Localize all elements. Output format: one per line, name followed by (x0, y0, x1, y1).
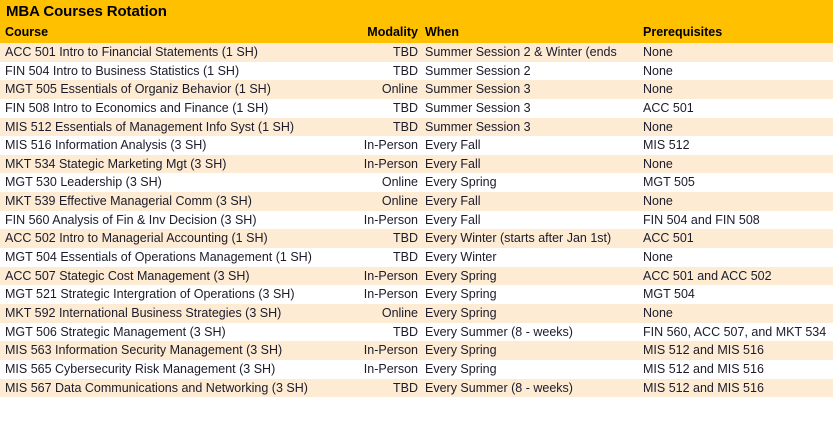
cell-course[interactable]: MIS 563 Information Security Management … (5, 341, 341, 360)
table-row[interactable]: MGT 506 Strategic Management (3 SH)TBDEv… (0, 323, 833, 342)
sheet-title-row: MBA Courses Rotation (0, 0, 833, 22)
cell-course[interactable]: MKT 539 Effective Managerial Comm (3 SH) (5, 192, 341, 211)
cell-modality[interactable]: TBD (341, 229, 420, 248)
cell-course[interactable]: FIN 508 Intro to Economics and Finance (… (5, 99, 341, 118)
table-row[interactable]: MKT 592 International Business Strategie… (0, 304, 833, 323)
cell-modality[interactable]: Online (341, 80, 420, 99)
cell-modality[interactable]: In-Person (341, 211, 420, 230)
table-row[interactable]: MIS 516 Information Analysis (3 SH)In-Pe… (0, 136, 833, 155)
cell-modality[interactable]: In-Person (341, 360, 420, 379)
sheet-empty-area (0, 397, 833, 425)
cell-course[interactable]: MIS 512 Essentials of Management Info Sy… (5, 118, 341, 137)
cell-course[interactable]: MIS 565 Cybersecurity Risk Management (3… (5, 360, 341, 379)
cell-prerequisites[interactable]: MGT 504 (643, 285, 831, 304)
table-row[interactable]: MIS 563 Information Security Management … (0, 341, 833, 360)
cell-modality[interactable]: In-Person (341, 267, 420, 286)
cell-prerequisites[interactable]: None (643, 304, 831, 323)
table-body: ACC 501 Intro to Financial Statements (1… (0, 43, 833, 397)
cell-modality[interactable]: TBD (341, 323, 420, 342)
cell-prerequisites[interactable]: MGT 505 (643, 173, 831, 192)
cell-when[interactable]: Every Spring (425, 173, 641, 192)
cell-modality[interactable]: In-Person (341, 285, 420, 304)
table-row[interactable]: MGT 505 Essentials of Organiz Behavior (… (0, 80, 833, 99)
cell-prerequisites[interactable]: None (643, 118, 831, 137)
table-row[interactable]: MIS 567 Data Communications and Networki… (0, 379, 833, 398)
cell-prerequisites[interactable]: MIS 512 and MIS 516 (643, 360, 831, 379)
table-row[interactable]: FIN 560 Analysis of Fin & Inv Decision (… (0, 211, 833, 230)
table-row[interactable]: MIS 512 Essentials of Management Info Sy… (0, 118, 833, 137)
cell-modality[interactable]: TBD (341, 99, 420, 118)
cell-when[interactable]: Every Fall (425, 211, 641, 230)
cell-when[interactable]: Every Spring (425, 341, 641, 360)
cell-when[interactable]: Summer Session 2 & Winter (ends (425, 43, 641, 62)
cell-course[interactable]: MGT 521 Strategic Intergration of Operat… (5, 285, 341, 304)
table-row[interactable]: FIN 504 Intro to Business Statistics (1 … (0, 62, 833, 81)
cell-prerequisites[interactable]: ACC 501 and ACC 502 (643, 267, 831, 286)
cell-course[interactable]: ACC 507 Stategic Cost Management (3 SH) (5, 267, 341, 286)
cell-prerequisites[interactable]: None (643, 248, 831, 267)
table-row[interactable]: ACC 501 Intro to Financial Statements (1… (0, 43, 833, 62)
cell-prerequisites[interactable]: None (643, 80, 831, 99)
cell-modality[interactable]: Online (341, 192, 420, 211)
cell-course[interactable]: MGT 505 Essentials of Organiz Behavior (… (5, 80, 341, 99)
column-header-course[interactable]: Course (5, 22, 341, 43)
table-row[interactable]: MGT 521 Strategic Intergration of Operat… (0, 285, 833, 304)
cell-prerequisites[interactable]: None (643, 192, 831, 211)
cell-course[interactable]: MGT 504 Essentials of Operations Managem… (5, 248, 341, 267)
cell-prerequisites[interactable]: MIS 512 and MIS 516 (643, 341, 831, 360)
cell-modality[interactable]: TBD (341, 62, 420, 81)
cell-when[interactable]: Every Fall (425, 192, 641, 211)
cell-course[interactable]: ACC 501 Intro to Financial Statements (1… (5, 43, 341, 62)
cell-when[interactable]: Every Summer (8 - weeks) (425, 379, 641, 398)
cell-prerequisites[interactable]: None (643, 62, 831, 81)
cell-when[interactable]: Summer Session 3 (425, 99, 641, 118)
page-title: MBA Courses Rotation (6, 4, 167, 19)
cell-modality[interactable]: TBD (341, 43, 420, 62)
cell-modality[interactable]: TBD (341, 379, 420, 398)
cell-prerequisites[interactable]: ACC 501 (643, 99, 831, 118)
cell-modality[interactable]: TBD (341, 248, 420, 267)
cell-prerequisites[interactable]: MIS 512 (643, 136, 831, 155)
cell-course[interactable]: ACC 502 Intro to Managerial Accounting (… (5, 229, 341, 248)
spreadsheet-sheet: MBA Courses Rotation Course Modality Whe… (0, 0, 833, 425)
cell-prerequisites[interactable]: None (643, 43, 831, 62)
cell-course[interactable]: MGT 506 Strategic Management (3 SH) (5, 323, 341, 342)
cell-course[interactable]: MKT 534 Stategic Marketing Mgt (3 SH) (5, 155, 341, 174)
cell-prerequisites[interactable]: ACC 501 (643, 229, 831, 248)
table-row[interactable]: ACC 507 Stategic Cost Management (3 SH)I… (0, 267, 833, 286)
cell-modality[interactable]: Online (341, 173, 420, 192)
cell-modality[interactable]: Online (341, 304, 420, 323)
cell-when[interactable]: Every Winter (starts after Jan 1st) (425, 229, 641, 248)
cell-course[interactable]: MIS 516 Information Analysis (3 SH) (5, 136, 341, 155)
cell-modality[interactable]: In-Person (341, 136, 420, 155)
cell-when[interactable]: Every Spring (425, 267, 641, 286)
table-row[interactable]: FIN 508 Intro to Economics and Finance (… (0, 99, 833, 118)
column-header-modality[interactable]: Modality (341, 22, 420, 43)
cell-when[interactable]: Every Spring (425, 285, 641, 304)
cell-when[interactable]: Every Spring (425, 360, 641, 379)
column-header-prerequisites[interactable]: Prerequisites (643, 22, 831, 43)
cell-prerequisites[interactable]: FIN 504 and FIN 508 (643, 211, 831, 230)
cell-modality[interactable]: In-Person (341, 155, 420, 174)
table-header-row: Course Modality When Prerequisites (0, 22, 833, 43)
cell-when[interactable]: Summer Session 2 (425, 62, 641, 81)
cell-prerequisites[interactable]: MIS 512 and MIS 516 (643, 379, 831, 398)
cell-when[interactable]: Summer Session 3 (425, 118, 641, 137)
cell-course[interactable]: FIN 560 Analysis of Fin & Inv Decision (… (5, 211, 341, 230)
cell-course[interactable]: MIS 567 Data Communications and Networki… (5, 379, 341, 398)
table-row[interactable]: MGT 504 Essentials of Operations Managem… (0, 248, 833, 267)
cell-modality[interactable]: TBD (341, 118, 420, 137)
table-row[interactable]: ACC 502 Intro to Managerial Accounting (… (0, 229, 833, 248)
column-header-when[interactable]: When (425, 22, 641, 43)
cell-course[interactable]: MKT 592 International Business Strategie… (5, 304, 341, 323)
table-row[interactable]: MIS 565 Cybersecurity Risk Management (3… (0, 360, 833, 379)
cell-when[interactable]: Every Summer (8 - weeks) (425, 323, 641, 342)
cell-when[interactable]: Every Spring (425, 304, 641, 323)
cell-when[interactable]: Every Winter (425, 248, 641, 267)
cell-when[interactable]: Summer Session 3 (425, 80, 641, 99)
table-row[interactable]: MKT 539 Effective Managerial Comm (3 SH)… (0, 192, 833, 211)
cell-when[interactable]: Every Fall (425, 155, 641, 174)
cell-course[interactable]: MGT 530 Leadership (3 SH) (5, 173, 341, 192)
cell-modality[interactable]: In-Person (341, 341, 420, 360)
cell-course[interactable]: FIN 504 Intro to Business Statistics (1 … (5, 62, 341, 81)
cell-when[interactable]: Every Fall (425, 136, 641, 155)
table-row[interactable]: MKT 534 Stategic Marketing Mgt (3 SH)In-… (0, 155, 833, 174)
table-row[interactable]: MGT 530 Leadership (3 SH)OnlineEvery Spr… (0, 173, 833, 192)
cell-prerequisites[interactable]: None (643, 155, 831, 174)
cell-prerequisites[interactable]: FIN 560, ACC 507, and MKT 534 (643, 323, 831, 342)
